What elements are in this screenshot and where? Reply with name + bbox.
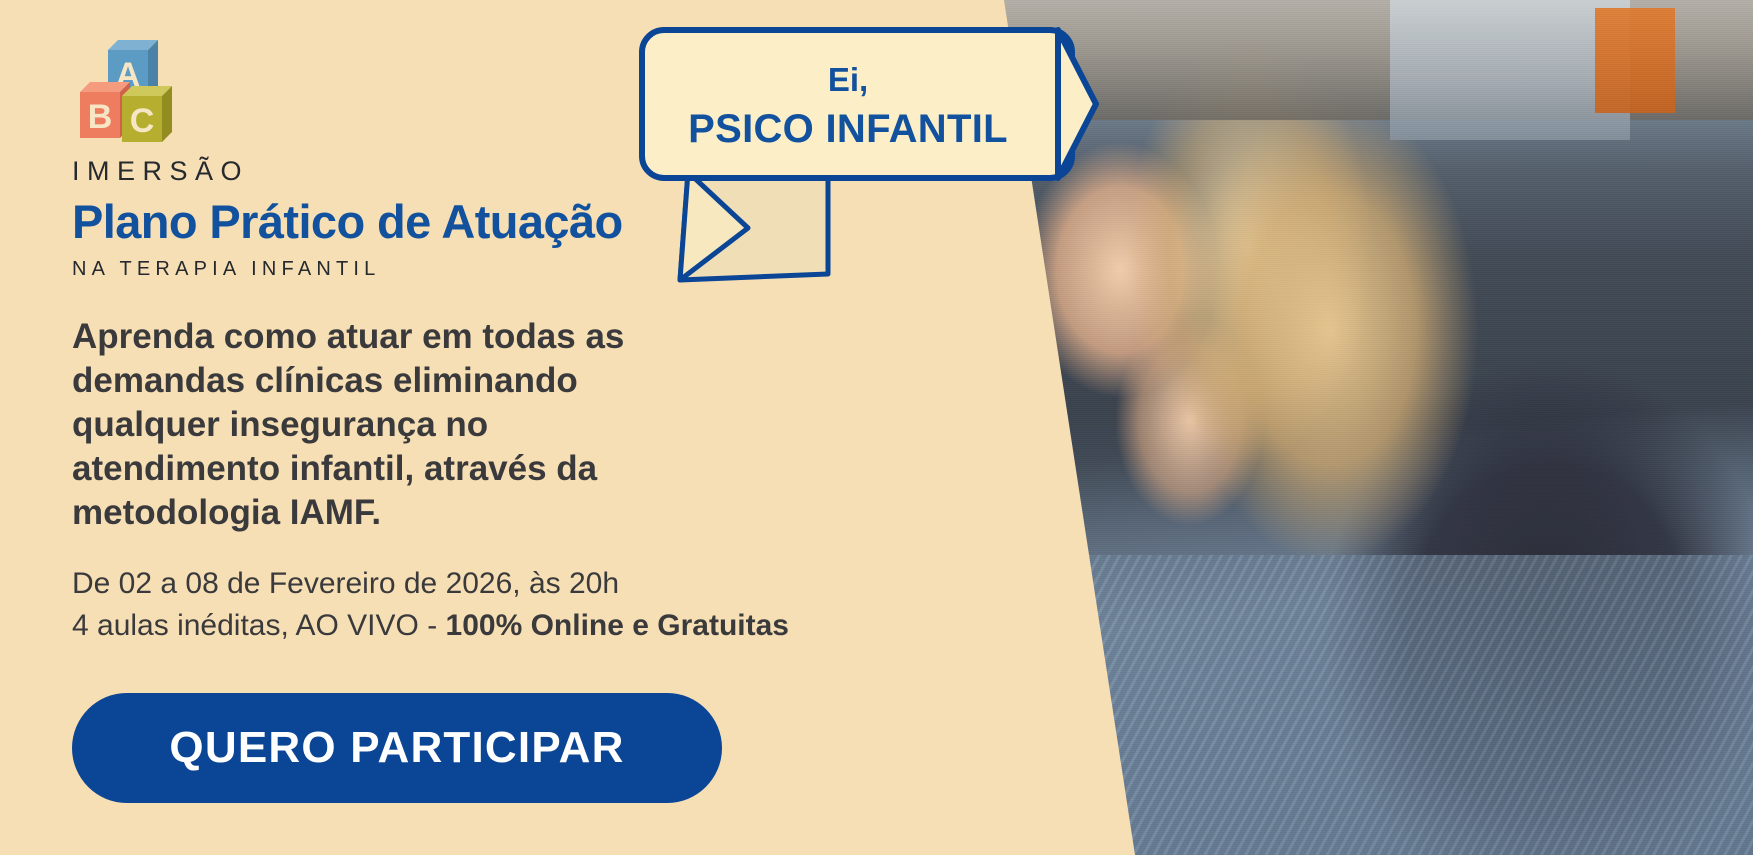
headline-text: Aprenda como atuar em todas as demandas … xyxy=(72,315,700,535)
svg-text:B: B xyxy=(88,98,113,136)
page-title: Plano Prático de Atuação xyxy=(72,194,700,249)
block-c-icon: C xyxy=(122,86,172,142)
abc-blocks-logo: A B C xyxy=(72,26,202,144)
brand-subtitle: NA TERAPIA INFANTIL xyxy=(72,258,700,281)
speech-bubble: Ei, PSICO INFANTIL xyxy=(628,22,1098,312)
speech-bubble-body xyxy=(642,30,1072,178)
classes-emphasis: 100% Online e Gratuitas xyxy=(446,609,789,642)
event-details: De 02 a 08 de Fevereiro de 2026, às 20h … xyxy=(72,563,700,647)
classes-prefix: 4 aulas inéditas, AO VIVO - xyxy=(72,609,446,642)
brand-kicker: IMERSÃO xyxy=(72,156,700,187)
quero-participar-button[interactable]: QUERO PARTICIPAR xyxy=(72,693,722,803)
svg-text:C: C xyxy=(130,102,155,140)
event-date-line: De 02 a 08 de Fevereiro de 2026, às 20h xyxy=(72,563,700,605)
content-column: A B C IMERSÃO Plano Prático de xyxy=(0,0,700,855)
speech-bubble-point xyxy=(1058,30,1096,178)
promo-banner: A B C IMERSÃO Plano Prático de xyxy=(0,0,1753,855)
event-classes-line: 4 aulas inéditas, AO VIVO - 100% Online … xyxy=(72,605,700,647)
